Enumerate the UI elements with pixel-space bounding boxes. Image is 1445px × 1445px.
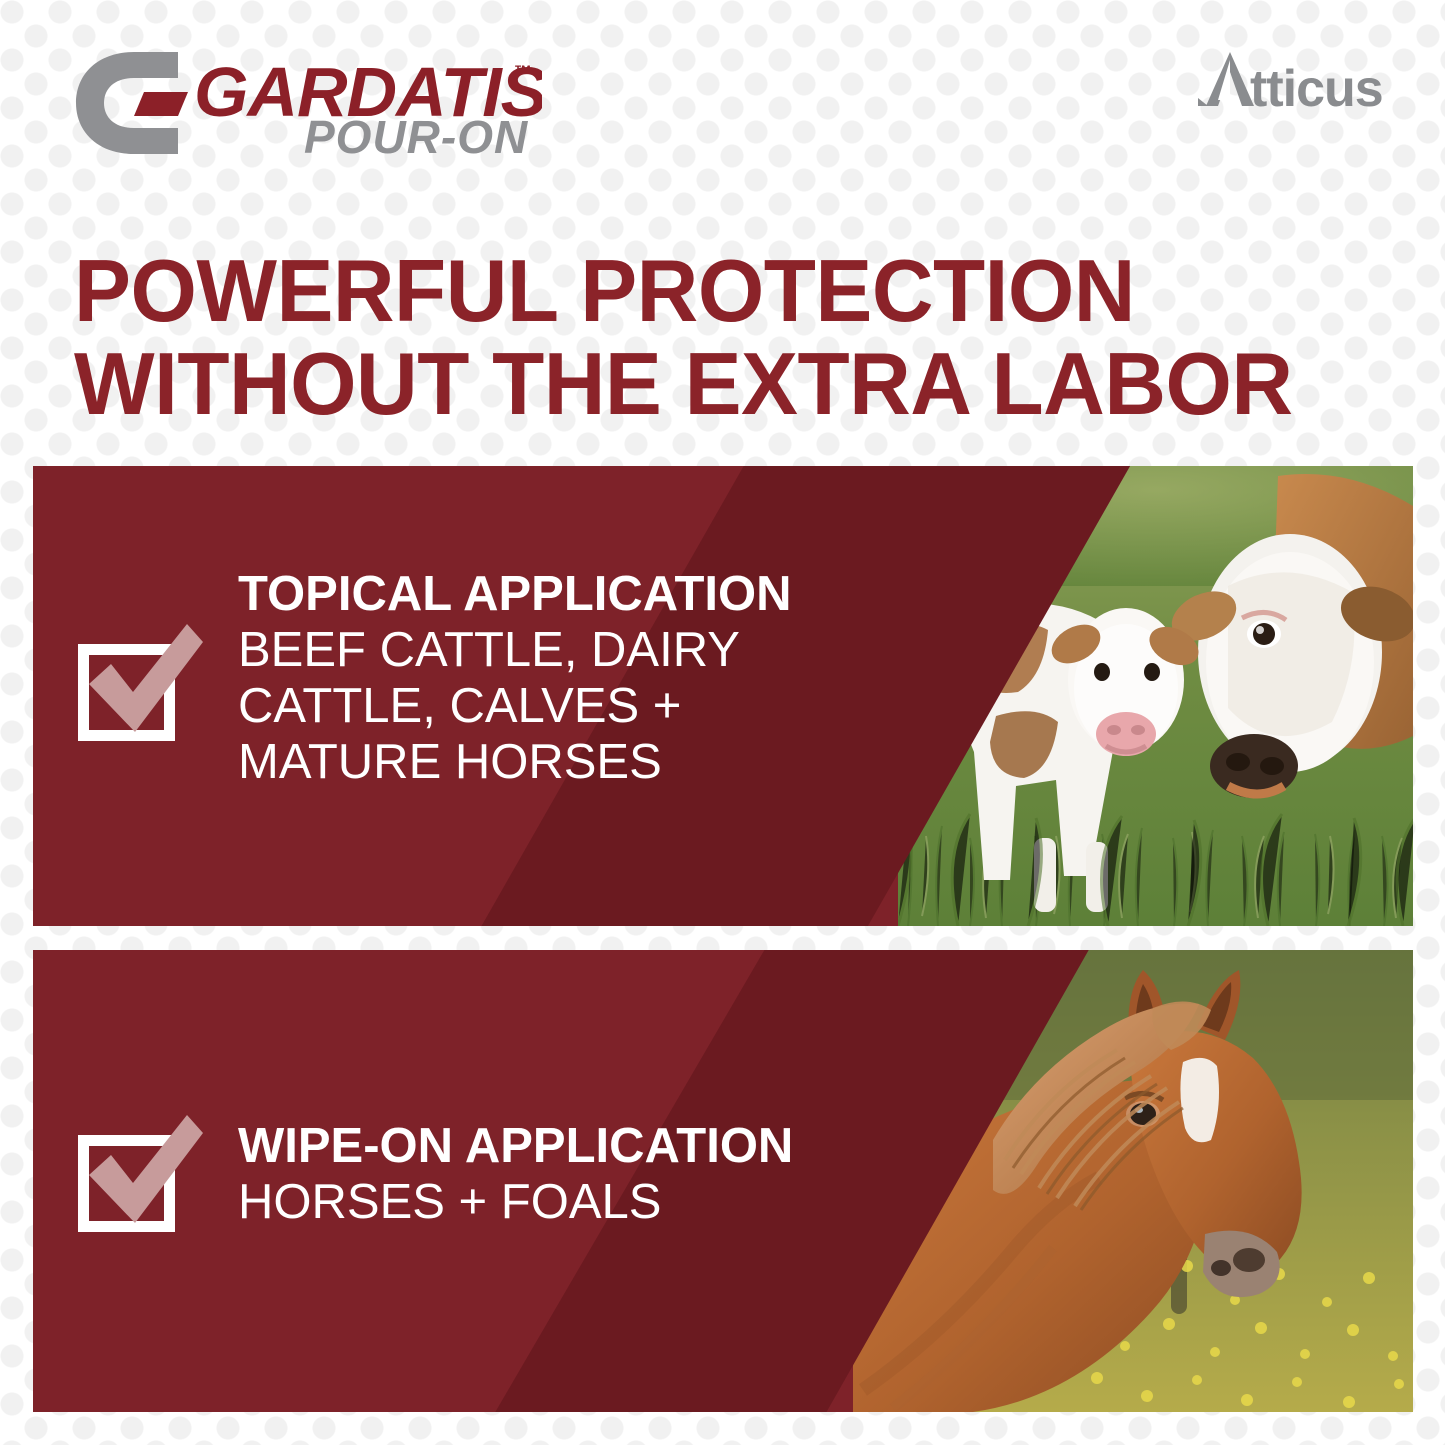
marketing-graphic: GARDATIS ™ POUR-ON tticus POWERFUL PROTE… bbox=[0, 0, 1445, 1445]
panel-text-topical: TOPICAL APPLICATION BEEF CATTLE, DAIRY C… bbox=[238, 566, 898, 790]
gardatis-logo: GARDATIS ™ POUR-ON bbox=[72, 48, 542, 158]
atticus-a-icon bbox=[1198, 52, 1254, 106]
feature-panel-topical-application: TOPICAL APPLICATION BEEF CATTLE, DAIRY C… bbox=[33, 466, 1413, 926]
panel-subtitle-line-3: MATURE HORSES bbox=[238, 734, 898, 790]
headline-line-1: POWERFUL PROTECTION bbox=[74, 244, 1354, 337]
atticus-logo: tticus bbox=[1196, 50, 1396, 112]
cow-and-calf-photo bbox=[898, 466, 1413, 926]
feature-panel-wipe-on-application: WIPE-ON APPLICATION HORSES + FOALS bbox=[33, 950, 1413, 1412]
panel-title: TOPICAL APPLICATION bbox=[238, 566, 898, 622]
panel-subtitle-line-1: BEEF CATTLE, DAIRY bbox=[238, 622, 898, 678]
gardatis-g-mark bbox=[76, 52, 188, 154]
checkmark-icon bbox=[53, 606, 203, 756]
header: GARDATIS ™ POUR-ON tticus bbox=[0, 0, 1445, 180]
atticus-wordmark: tticus bbox=[1250, 60, 1383, 112]
page-title: POWERFUL PROTECTION WITHOUT THE EXTRA LA… bbox=[74, 244, 1354, 430]
pour-on-wordmark: POUR-ON bbox=[304, 111, 528, 158]
panel-subtitle-line-1: HORSES + FOALS bbox=[238, 1174, 938, 1230]
trademark-symbol: ™ bbox=[514, 62, 532, 82]
panel-text-wipe-on: WIPE-ON APPLICATION HORSES + FOALS bbox=[238, 1118, 938, 1230]
panel-subtitle-line-2: CATTLE, CALVES + bbox=[238, 678, 898, 734]
panel-title: WIPE-ON APPLICATION bbox=[238, 1118, 938, 1174]
checkmark-icon bbox=[53, 1097, 203, 1247]
headline-line-2: WITHOUT THE EXTRA LABOR bbox=[74, 337, 1354, 430]
